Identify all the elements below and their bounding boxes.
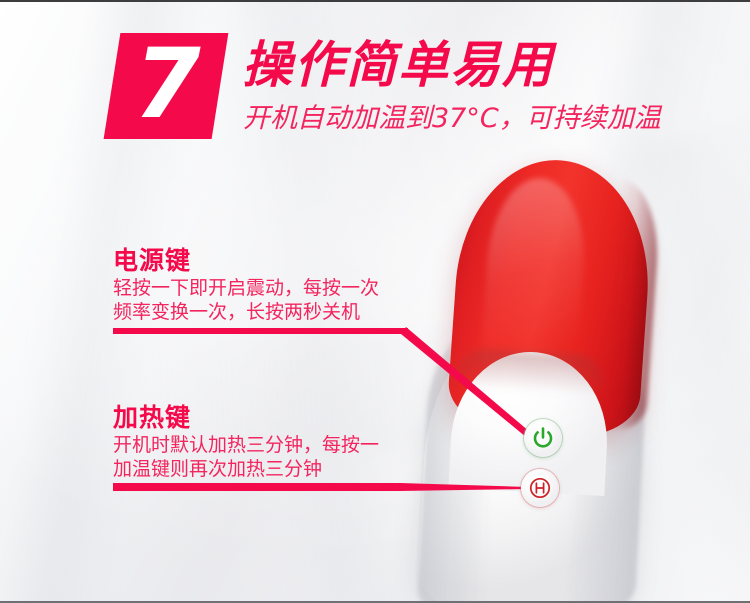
power-icon <box>531 426 555 450</box>
heat-button[interactable] <box>521 469 559 507</box>
callout-heat-line-2: 加温键则再次加热三分钟 <box>113 457 379 481</box>
page-subtitle: 开机自动加温到37°C，可持续加温 <box>243 103 661 135</box>
product-feature-panel: 7 操作简单易用 开机自动加温到37°C，可持续加温 电源键 轻按一下即开启震动… <box>0 0 750 603</box>
callout-power-key: 电源键 轻按一下即开启震动，每按一次 频率变换一次，长按两秒关机 <box>113 246 379 324</box>
callout-power-line-2: 频率变换一次，长按两秒关机 <box>113 300 379 324</box>
callout-power-line-1: 轻按一下即开启震动，每按一次 <box>113 276 379 300</box>
callout-heat-title: 加热键 <box>113 403 379 433</box>
page-title: 操作简单易用 <box>242 36 554 94</box>
callout-power-title: 电源键 <box>113 246 379 276</box>
top-edge-border <box>0 0 750 2</box>
callout-heat-key: 加热键 开机时默认加热三分钟，每按一 加温键则再次加热三分钟 <box>113 403 379 481</box>
power-button[interactable] <box>524 419 562 457</box>
callout-heat-line-1: 开机时默认加热三分钟，每按一 <box>113 433 379 457</box>
step-number-text: 7 <box>134 36 199 136</box>
heat-h-icon <box>528 476 552 500</box>
step-number-badge: 7 <box>104 33 229 139</box>
